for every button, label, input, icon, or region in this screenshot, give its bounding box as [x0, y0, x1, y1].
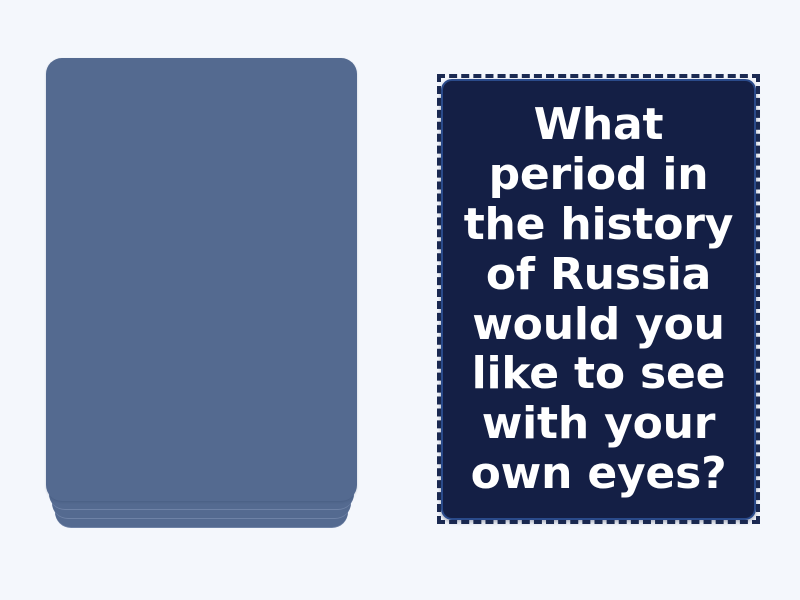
activity-stage: What period in the history of Russia wou…	[0, 0, 800, 600]
card-deck[interactable]	[46, 58, 357, 528]
deck-card-top[interactable]	[46, 58, 357, 501]
revealed-card-text: What period in the history of Russia wou…	[443, 100, 754, 500]
revealed-card[interactable]: What period in the history of Russia wou…	[441, 79, 756, 520]
